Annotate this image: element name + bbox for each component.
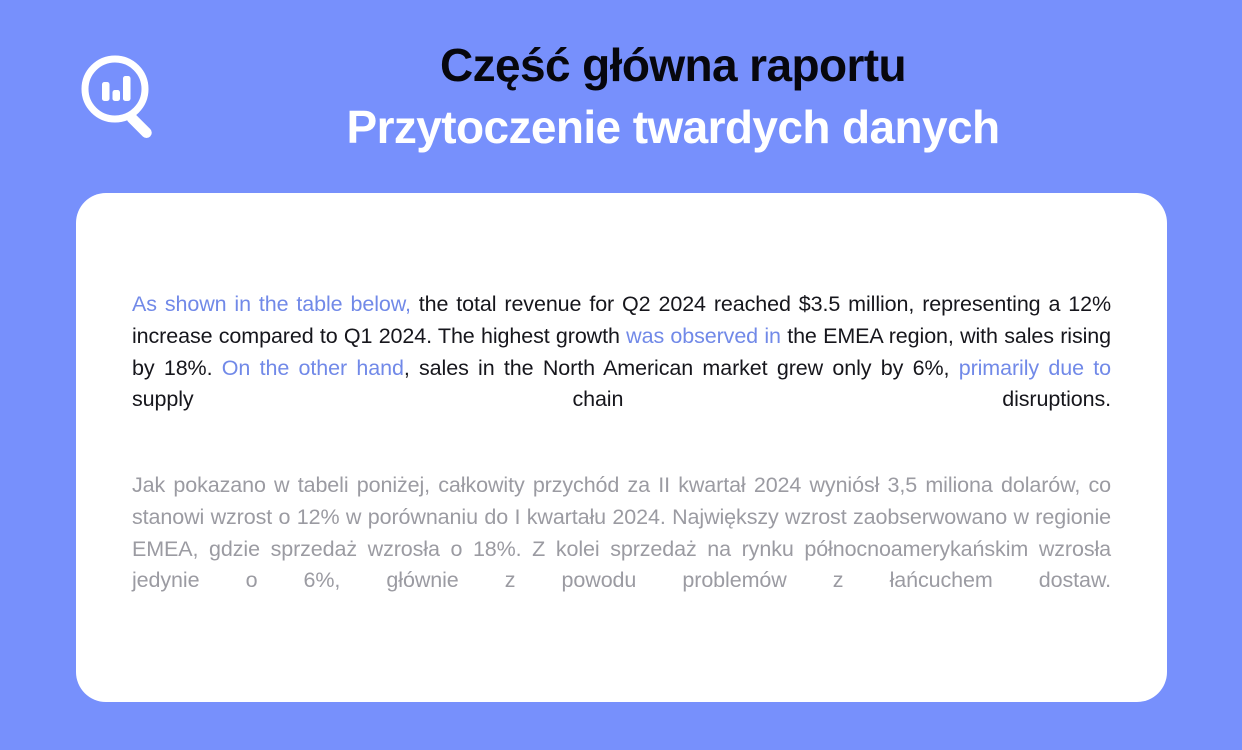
- text-run-5: , sales in the North American market gre…: [404, 356, 959, 380]
- text-run-7: supply chain disruptions.: [132, 387, 1111, 411]
- paragraph-english: As shown in the table below, the total r…: [132, 289, 1111, 448]
- header-titles: Część główna raportu Przytoczenie twardy…: [180, 34, 1166, 158]
- paragraph-polish: Jak pokazano w tabeli poniżej, całkowity…: [132, 470, 1111, 629]
- text-run-4: On the other hand: [222, 356, 404, 380]
- content-card: As shown in the table below, the total r…: [76, 193, 1167, 702]
- page-subtitle: Przytoczenie twardych danych: [180, 96, 1166, 158]
- text-run-2: was observed in: [626, 324, 781, 348]
- text-run-0: As shown in the table below,: [132, 292, 411, 316]
- chart-magnifier-icon: [76, 50, 168, 142]
- text-run-6: primarily due to: [959, 356, 1111, 380]
- slide-root: Część główna raportu Przytoczenie twardy…: [0, 0, 1242, 750]
- page-title: Część główna raportu: [180, 34, 1166, 96]
- slide-header: Część główna raportu Przytoczenie twardy…: [0, 0, 1242, 193]
